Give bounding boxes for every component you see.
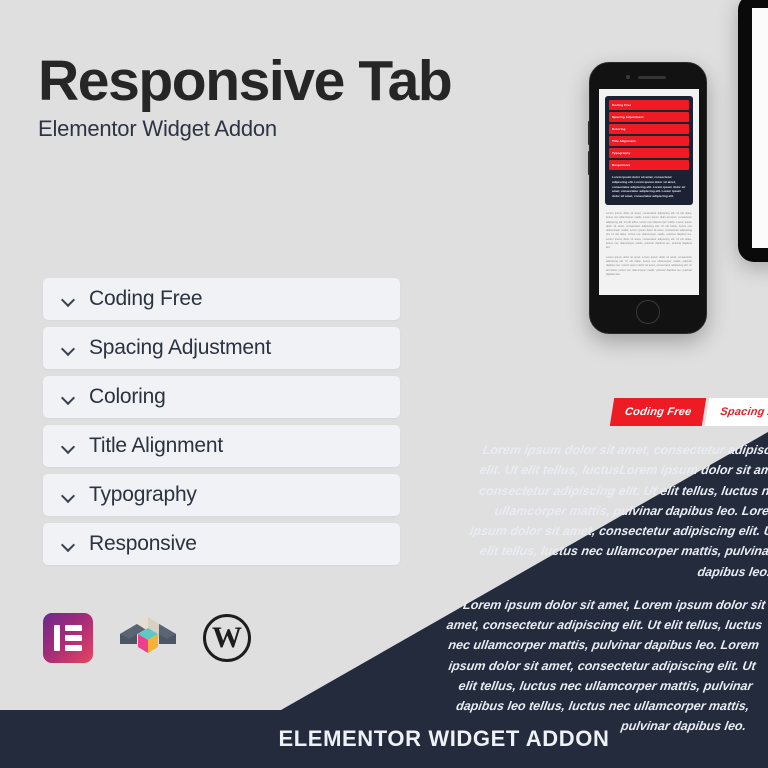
phone-tab-responsive[interactable]: Responsive: [609, 160, 689, 170]
footer-title: ELEMENTOR WIDGET ADDON: [0, 710, 768, 768]
phone-accordion-panel: Coding Free Spacing Adjustment Coloring …: [605, 96, 693, 205]
accordion-item-label: Typography: [89, 483, 197, 507]
elementor-bar-icon: [54, 625, 60, 651]
accordion-item-responsive[interactable]: Responsive: [43, 523, 400, 565]
phone-camera-icon: [626, 75, 630, 79]
accordion-item-label: Title Alignment: [89, 434, 223, 458]
tab-coding-free[interactable]: Coding Free: [610, 398, 707, 426]
chevron-down-icon: [61, 488, 75, 502]
phone-speaker-icon: [638, 76, 666, 79]
wordpress-logo: W: [203, 614, 251, 662]
tablet-screen: [752, 8, 768, 248]
phone-body-text: Lorem ipsum dolor sit amet, consectetur …: [599, 205, 699, 277]
phone-home-button[interactable]: [636, 300, 660, 324]
accordion-item-title-alignment[interactable]: Title Alignment: [43, 425, 400, 467]
elementor-logo: [43, 613, 93, 663]
elementor-rows-icon: [65, 625, 82, 651]
phone-tab-coloring[interactable]: Coloring: [609, 124, 689, 134]
chevron-down-icon: [61, 390, 75, 404]
accordion-item-label: Coding Free: [89, 287, 202, 311]
phone-panel-text: Lorem ipsum dolor sit amet, consectetur …: [609, 172, 689, 201]
isometric-box-logo: [120, 612, 176, 664]
wordpress-w-glyph: W: [212, 623, 242, 653]
accordion-item-coloring[interactable]: Coloring: [43, 376, 400, 418]
phone-mockup: Coding Free Spacing Adjustment Coloring …: [589, 62, 707, 334]
phone-paragraph-1: Lorem ipsum dolor sit amet, consectetur …: [606, 212, 692, 251]
tab-paragraph-1: Lorem ipsum dolor sit amet, consectetur …: [449, 440, 768, 582]
phone-tab-title-alignment[interactable]: Title Alignment: [609, 136, 689, 146]
accordion-item-typography[interactable]: Typography: [43, 474, 400, 516]
tab-spacing-adjustment[interactable]: Spacing Adjustment: [705, 398, 768, 426]
phone-tab-spacing-adjustment[interactable]: Spacing Adjustment: [609, 112, 689, 122]
phone-paragraph-2: Lorem ipsum dolor sit amet, Lorem ipsum …: [606, 256, 692, 278]
page-title: Responsive Tab: [38, 52, 451, 110]
chevron-down-icon: [61, 292, 75, 306]
accordion-item-label: Coloring: [89, 385, 166, 409]
phone-screen: Coding Free Spacing Adjustment Coloring …: [599, 89, 699, 295]
phone-tab-typography[interactable]: Typography: [609, 148, 689, 158]
logo-row: W: [43, 612, 251, 664]
phone-volume-button: [588, 121, 590, 145]
chevron-down-icon: [61, 537, 75, 551]
phone-volume-button-2: [588, 151, 590, 175]
accordion-item-coding-free[interactable]: Coding Free: [43, 278, 400, 320]
page-subtitle: Elementor Widget Addon: [38, 116, 451, 142]
tab-widget-content: Lorem ipsum dolor sit amet, consectetur …: [425, 440, 768, 737]
tablet-mockup: [738, 0, 768, 262]
chevron-down-icon: [61, 341, 75, 355]
chevron-down-icon: [61, 439, 75, 453]
phone-tab-coding-free[interactable]: Coding Free: [609, 100, 689, 110]
accordion-item-spacing-adjustment[interactable]: Spacing Adjustment: [43, 327, 400, 369]
header-block: Responsive Tab Elementor Widget Addon: [38, 52, 451, 142]
tab-widget: Coding Free Spacing Adjustment: [610, 398, 768, 426]
accordion-item-label: Spacing Adjustment: [89, 336, 271, 360]
accordion-list: Coding Free Spacing Adjustment Coloring …: [43, 278, 400, 572]
accordion-item-label: Responsive: [89, 532, 197, 556]
